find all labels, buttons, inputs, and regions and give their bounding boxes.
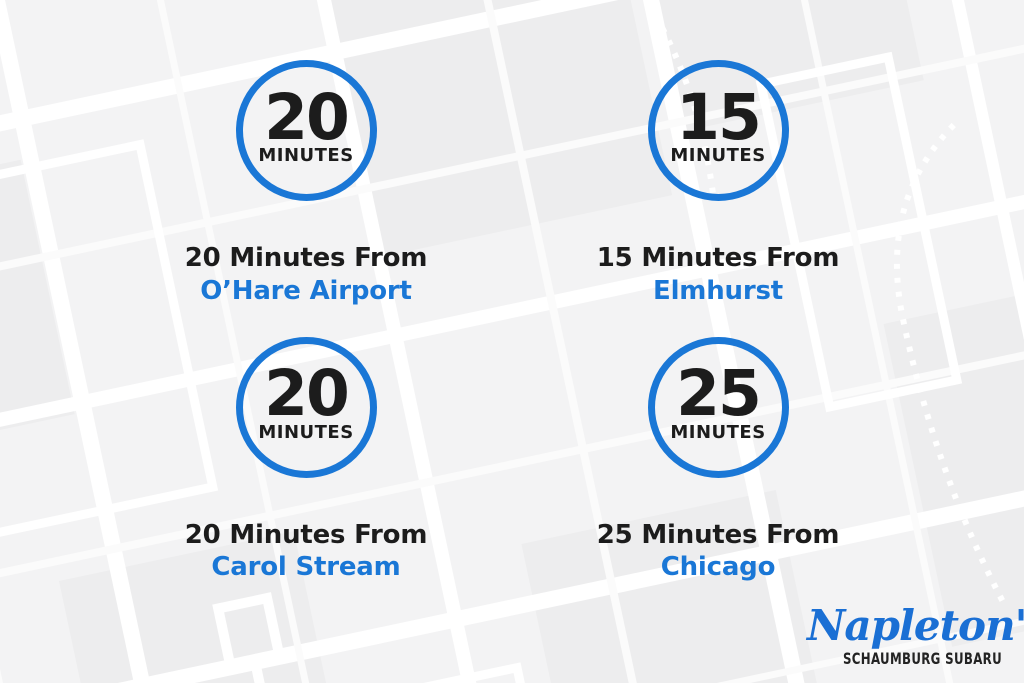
drive-time-grid: 20 MINUTES 20 Minutes From O’Hare Airpor… [0,0,1024,683]
card-caption: 20 Minutes From O’Hare Airport [185,242,428,308]
caption-line-primary: 20 Minutes From [185,242,428,275]
card-caption: 25 Minutes From Chicago [597,519,840,585]
caption-line-location: Elmhurst [597,275,840,308]
caption-line-location: O’Hare Airport [185,275,428,308]
logo-wordmark: Napleton's [807,605,1002,647]
card-caption: 20 Minutes From Carol Stream [185,519,428,585]
drive-time-card-ohare: 20 MINUTES 20 Minutes From O’Hare Airpor… [100,60,512,337]
promo-graphic: 20 MINUTES 20 Minutes From O’Hare Airpor… [0,0,1024,683]
badge-unit-label: MINUTES [670,424,765,442]
minutes-badge-carol-stream: 20 MINUTES [236,337,377,478]
minutes-badge-chicago: 25 MINUTES [648,337,789,478]
caption-line-location: Carol Stream [185,551,428,584]
badge-number: 25 [676,368,760,421]
drive-time-card-chicago: 25 MINUTES 25 Minutes From Chicago [512,337,924,614]
drive-time-card-carol-stream: 20 MINUTES 20 Minutes From Carol Stream [100,337,512,614]
caption-line-primary: 25 Minutes From [597,519,840,552]
caption-line-primary: 20 Minutes From [185,519,428,552]
minutes-badge-elmhurst: 15 MINUTES [648,60,789,201]
badge-unit-label: MINUTES [258,147,353,165]
badge-unit-label: MINUTES [258,424,353,442]
minutes-badge-ohare: 20 MINUTES [236,60,377,201]
badge-number: 20 [264,368,348,421]
drive-time-card-elmhurst: 15 MINUTES 15 Minutes From Elmhurst [512,60,924,337]
caption-line-primary: 15 Minutes From [597,242,840,275]
badge-unit-label: MINUTES [670,147,765,165]
badge-number: 15 [676,92,760,145]
card-caption: 15 Minutes From Elmhurst [597,242,840,308]
dealer-logo: Napleton's SCHAUMBURG SUBARU [807,605,1002,667]
logo-subtitle: SCHAUMBURG SUBARU [842,651,1002,667]
badge-number: 20 [264,92,348,145]
caption-line-location: Chicago [597,551,840,584]
